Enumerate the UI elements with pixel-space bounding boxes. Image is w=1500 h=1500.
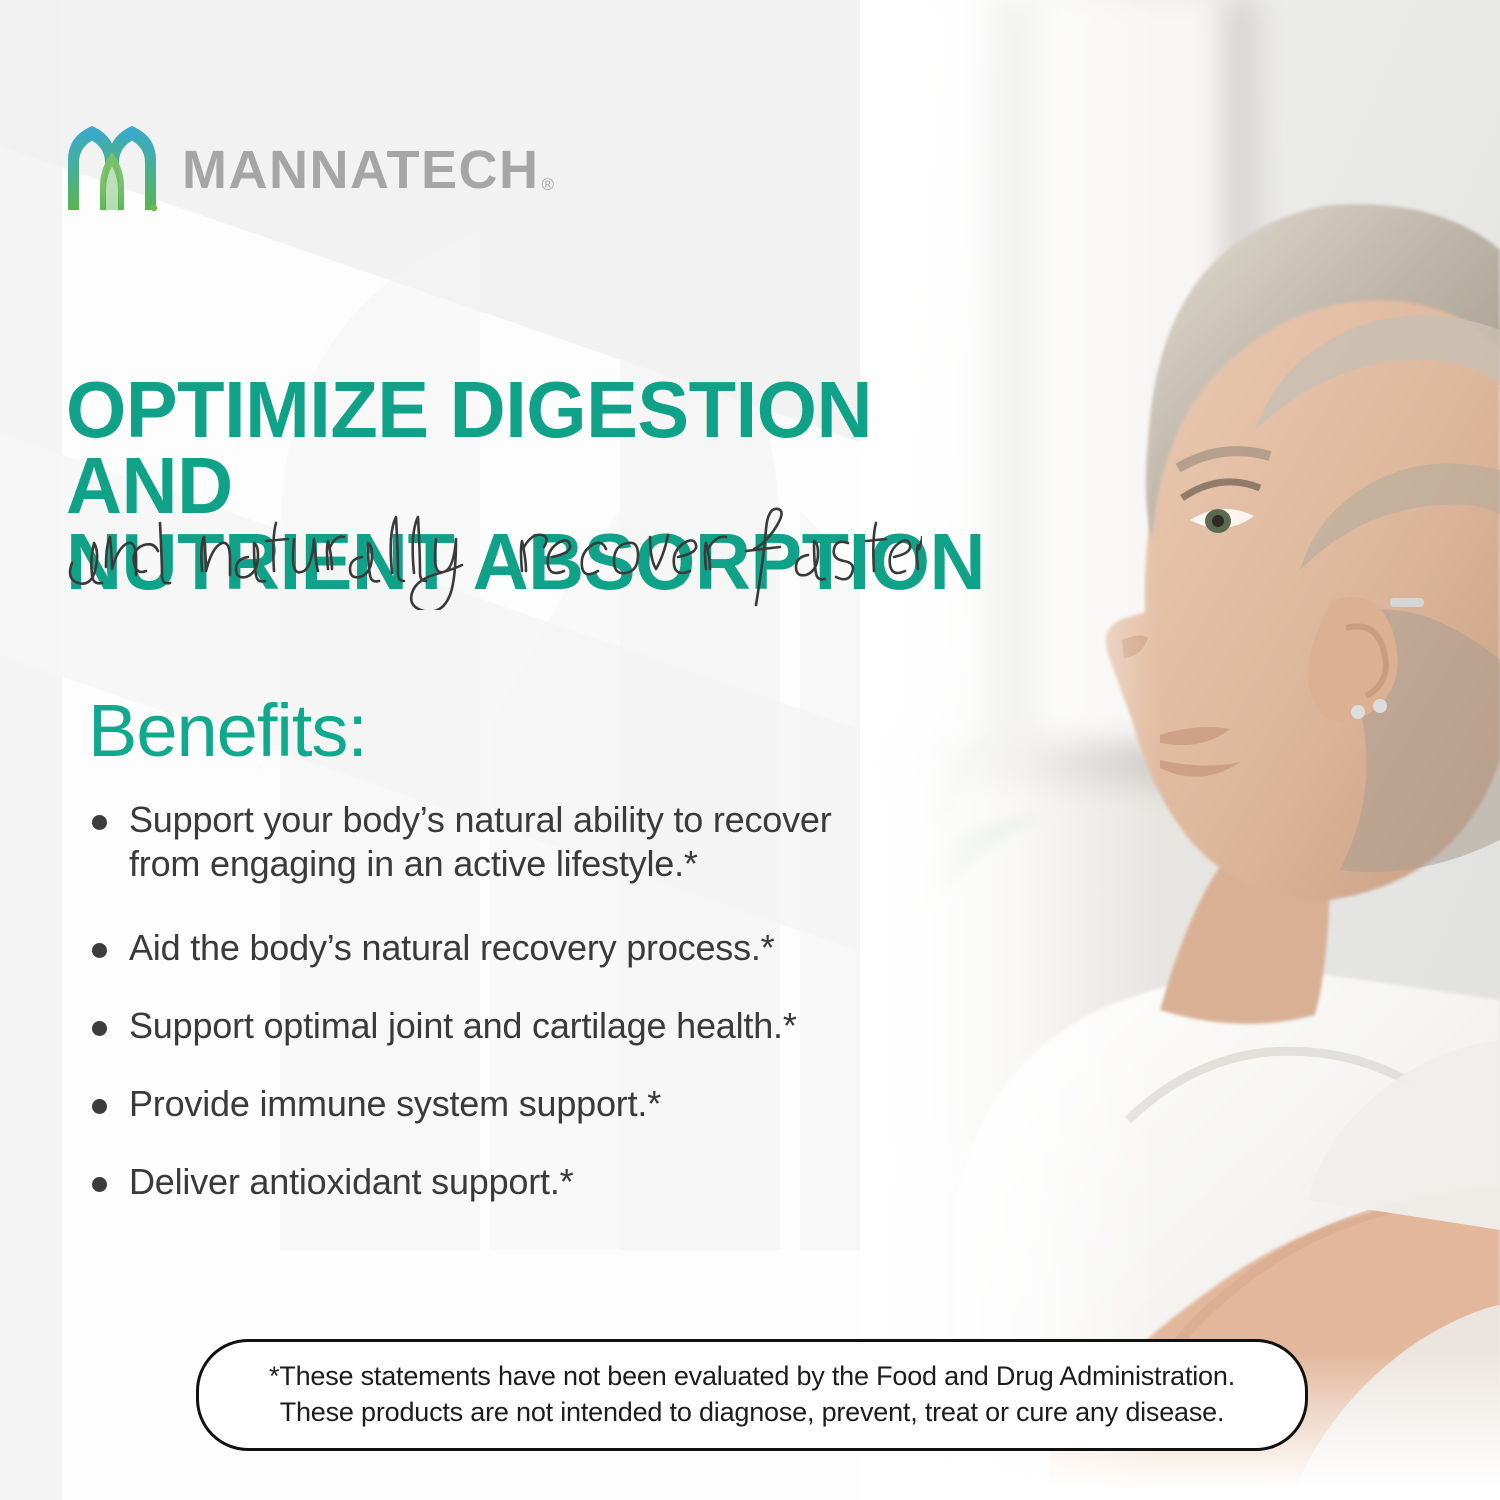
list-item: Aid the body’s natural recovery process.… (92, 926, 962, 970)
fda-disclaimer-box: *These statements have not been evaluate… (196, 1339, 1308, 1451)
list-item: Support optimal joint and cartilage heal… (92, 1004, 962, 1048)
background-left-band (0, 0, 62, 1500)
list-item: Support your body’s natural ability to r… (92, 798, 962, 886)
script-subtitle (62, 505, 922, 610)
list-item-text: Deliver antioxidant support.* (129, 1160, 573, 1204)
list-item: Deliver antioxidant support.* (92, 1160, 962, 1204)
list-item: Provide immune system support.* (92, 1082, 962, 1126)
mannatech-logo: MANNATECH® (64, 122, 554, 214)
brand-name: MANNATECH (182, 140, 539, 200)
list-item-text: Provide immune system support.* (129, 1082, 661, 1126)
mannatech-m-logo-icon (64, 122, 160, 214)
hero-photo (860, 0, 1500, 1500)
list-item-text: Aid the body’s natural recovery process.… (129, 926, 774, 970)
bullet-dot-icon (92, 1099, 107, 1114)
photo-left-fade (860, 0, 1160, 1500)
list-item-line: Support your body’s natural ability to r… (129, 799, 832, 840)
bullet-dot-icon (92, 943, 107, 958)
list-item-line: from engaging in an active lifestyle.* (129, 843, 698, 884)
bullet-dot-icon (92, 815, 107, 830)
list-item-text: Support optimal joint and cartilage heal… (129, 1004, 797, 1048)
mannatech-wordmark: MANNATECH® (182, 143, 554, 197)
list-item-text: Support your body’s natural ability to r… (129, 798, 832, 886)
benefits-heading: Benefits: (88, 694, 367, 768)
promo-graphic: MANNATECH® OPTIMIZE DIGESTION AND NUTRIE… (0, 0, 1500, 1500)
disclaimer-line-1: *These statements have not been evaluate… (229, 1358, 1275, 1394)
bullet-dot-icon (92, 1177, 107, 1192)
registered-mark: ® (541, 175, 555, 194)
disclaimer-line-2: These products are not intended to diagn… (229, 1394, 1275, 1430)
bullet-dot-icon (92, 1021, 107, 1036)
benefits-list: Support your body’s natural ability to r… (92, 798, 962, 1203)
